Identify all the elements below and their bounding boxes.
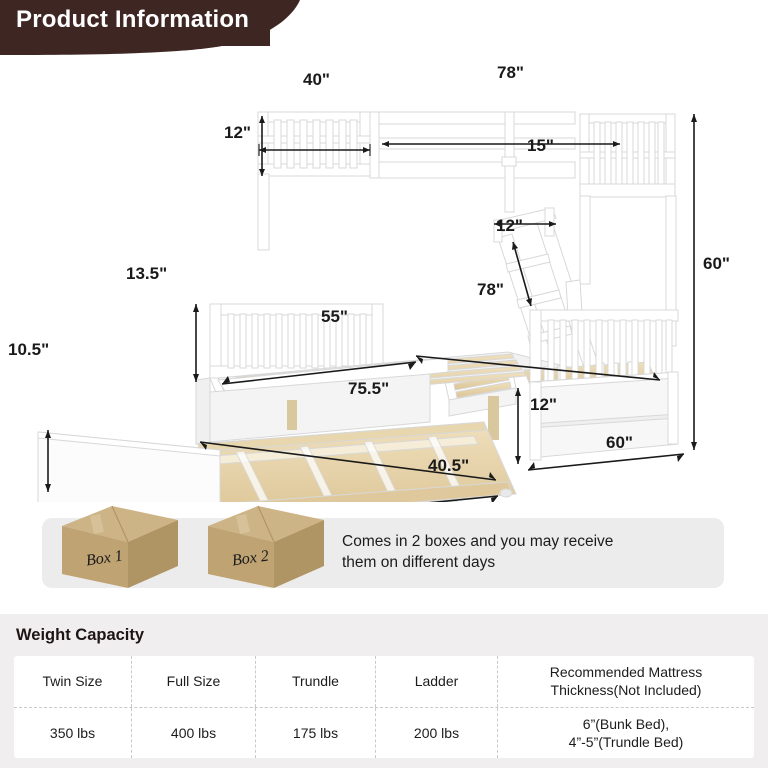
product-information-page: Product Information (0, 0, 768, 768)
dim-lower-bunk-width: 55" (321, 307, 348, 327)
dim-footboard-height: 12" (530, 395, 557, 415)
lower-bed-footboard (530, 310, 678, 460)
weight-capacity-section: Weight Capacity Twin Size Full Size Trun… (0, 614, 768, 768)
packaging-strip: Box 1 Box 2 Comes in 2 boxes and you may… (42, 518, 724, 588)
dim-trundle-clearance: 10.5" (8, 340, 49, 360)
header-ladder: Ladder (376, 656, 498, 707)
header-trundle: Trundle (256, 656, 376, 707)
value-full-size: 400 lbs (132, 708, 256, 759)
top-bunk-headboard (258, 112, 370, 250)
packaging-note-line2: them on different days (342, 553, 714, 574)
table-header-row: Twin Size Full Size Trundle Ladder Recom… (14, 656, 754, 708)
header-twin-size: Twin Size (14, 656, 132, 707)
dim-ladder-width: 15" (527, 136, 554, 156)
dim-trundle-length: 75.5" (348, 379, 389, 399)
dim-top-bunk-length: 78" (497, 63, 524, 83)
value-twin-size: 350 lbs (14, 708, 132, 759)
header-recommended-line1: Recommended Mattress (550, 663, 703, 681)
page-title: Product Information (16, 6, 249, 34)
header-banner: Product Information (0, 0, 768, 56)
dim-overall-width: 60" (606, 433, 633, 453)
shipping-box-1: Box 1 (56, 504, 184, 590)
dim-overall-height: 60" (703, 254, 730, 274)
dim-trundle-width: 40.5" (428, 456, 469, 476)
value-ladder: 200 lbs (376, 708, 498, 759)
dim-full-headboard-height: 13.5" (126, 264, 167, 284)
dim-ladder-rung-spacing: 12" (496, 216, 523, 236)
header-recommended-line2: Thickness(Not Included) (550, 681, 703, 699)
shipping-box-2: Box 2 (202, 504, 330, 590)
value-recommended-line1: 6”(Bunk Bed), (569, 715, 684, 733)
header-recommended-mattress-thickness: Recommended Mattress Thickness(Not Inclu… (498, 656, 754, 707)
packaging-note: Comes in 2 boxes and you may receive the… (342, 532, 714, 574)
header-full-size: Full Size (132, 656, 256, 707)
value-recommended-mattress-thickness: 6”(Bunk Bed), 4”-5”(Trundle Bed) (498, 708, 754, 759)
bunk-bed-illustration (0, 52, 768, 502)
table-value-row: 350 lbs 400 lbs 175 lbs 200 lbs 6”(Bunk … (14, 708, 754, 759)
packaging-note-line1: Comes in 2 boxes and you may receive (342, 532, 714, 553)
dim-top-bunk-width: 40" (303, 70, 330, 90)
dim-top-guardrail-height: 12" (224, 123, 251, 143)
weight-capacity-title: Weight Capacity (16, 626, 144, 645)
value-recommended-line2: 4”-5”(Trundle Bed) (569, 733, 684, 751)
value-trundle: 175 lbs (256, 708, 376, 759)
dim-lower-bunk-depth: 78" (477, 280, 504, 300)
bunk-bed-diagram: 40" 78" 12" 15" 12" 60" 13.5" 78" 55" 10… (0, 52, 768, 502)
weight-capacity-table: Twin Size Full Size Trundle Ladder Recom… (14, 656, 754, 758)
